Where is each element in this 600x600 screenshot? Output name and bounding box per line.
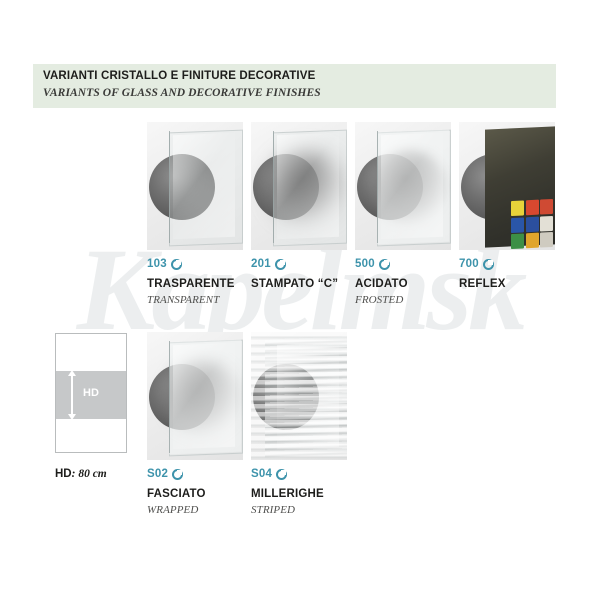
hd-height-diagram: HD (55, 333, 127, 453)
hd-band-label: HD (83, 387, 99, 399)
hd-caption: HD: 80 cm (55, 468, 107, 480)
sample-photo-wrapped (147, 332, 243, 460)
cube-white-2 (540, 232, 553, 248)
hd-caption-value: : 80 cm (72, 468, 107, 480)
cube-yellow (511, 200, 524, 216)
sample-name: FASCIATO (147, 488, 206, 500)
cube-white (540, 215, 553, 231)
droplet-circle-icon (172, 469, 183, 480)
sample-photo-reflex (459, 122, 555, 250)
sample-subtitle: WRAPPED (147, 504, 198, 516)
frosted-overlay (169, 340, 241, 455)
cube-red (526, 200, 539, 216)
sample-code-text: 201 (251, 258, 271, 270)
stripe-overlay (251, 332, 347, 460)
droplet-circle-icon (276, 469, 287, 480)
droplet-circle-icon (379, 259, 390, 270)
sample-subtitle: FROSTED (355, 294, 403, 306)
sample-code-text: 103 (147, 258, 167, 270)
hd-arrow-icon (71, 375, 73, 415)
sample-name: MILLERIGHE (251, 488, 324, 500)
glass-edge (273, 131, 274, 243)
sample-code-text: S02 (147, 468, 168, 480)
sample-name: REFLEX (459, 278, 506, 290)
sample-photo-printed-c (251, 122, 347, 250)
sample-code: S04 (251, 468, 287, 480)
sample-code: S02 (147, 468, 183, 480)
cube-blue-2 (526, 216, 539, 232)
glass-edge (377, 131, 378, 243)
sample-code: 500 (355, 258, 390, 270)
section-header-banner: VARIANTI CRISTALLO E FINITURE DECORATIVE… (33, 64, 556, 108)
sample-name: ACIDATO (355, 278, 408, 290)
cube-orange (526, 233, 539, 249)
cube-blue (511, 217, 524, 233)
sample-photo-frosted (355, 122, 451, 250)
cube-red-2 (540, 199, 553, 215)
droplet-circle-icon (483, 259, 494, 270)
sample-code-text: S04 (251, 468, 272, 480)
sample-name: STAMPATO “C” (251, 278, 338, 290)
cube-green (511, 233, 524, 249)
page-title-it: VARIANTI CRISTALLO E FINITURE DECORATIVE (43, 70, 315, 82)
sample-code: 103 (147, 258, 182, 270)
diffused-sphere (269, 150, 343, 224)
color-cube-chart (511, 199, 553, 249)
sample-subtitle: TRANSPARENT (147, 294, 219, 306)
glass-edge (169, 341, 170, 453)
glass-edge (169, 131, 170, 243)
droplet-circle-icon (275, 259, 286, 270)
frosted-overlay (377, 130, 449, 245)
sample-code-text: 500 (355, 258, 375, 270)
page-title-en: VARIANTS OF GLASS AND DECORATIVE FINISHE… (43, 87, 321, 99)
hd-caption-key: HD (55, 468, 72, 480)
sample-name: TRASPARENTE (147, 278, 235, 290)
sample-photo-transparent (147, 122, 243, 250)
droplet-circle-icon (171, 259, 182, 270)
sample-photo-striped (251, 332, 347, 460)
sample-code: 201 (251, 258, 286, 270)
glass-pane (169, 130, 243, 247)
sample-subtitle: STRIPED (251, 504, 295, 516)
sample-code-text: 700 (459, 258, 479, 270)
sample-code: 700 (459, 258, 494, 270)
